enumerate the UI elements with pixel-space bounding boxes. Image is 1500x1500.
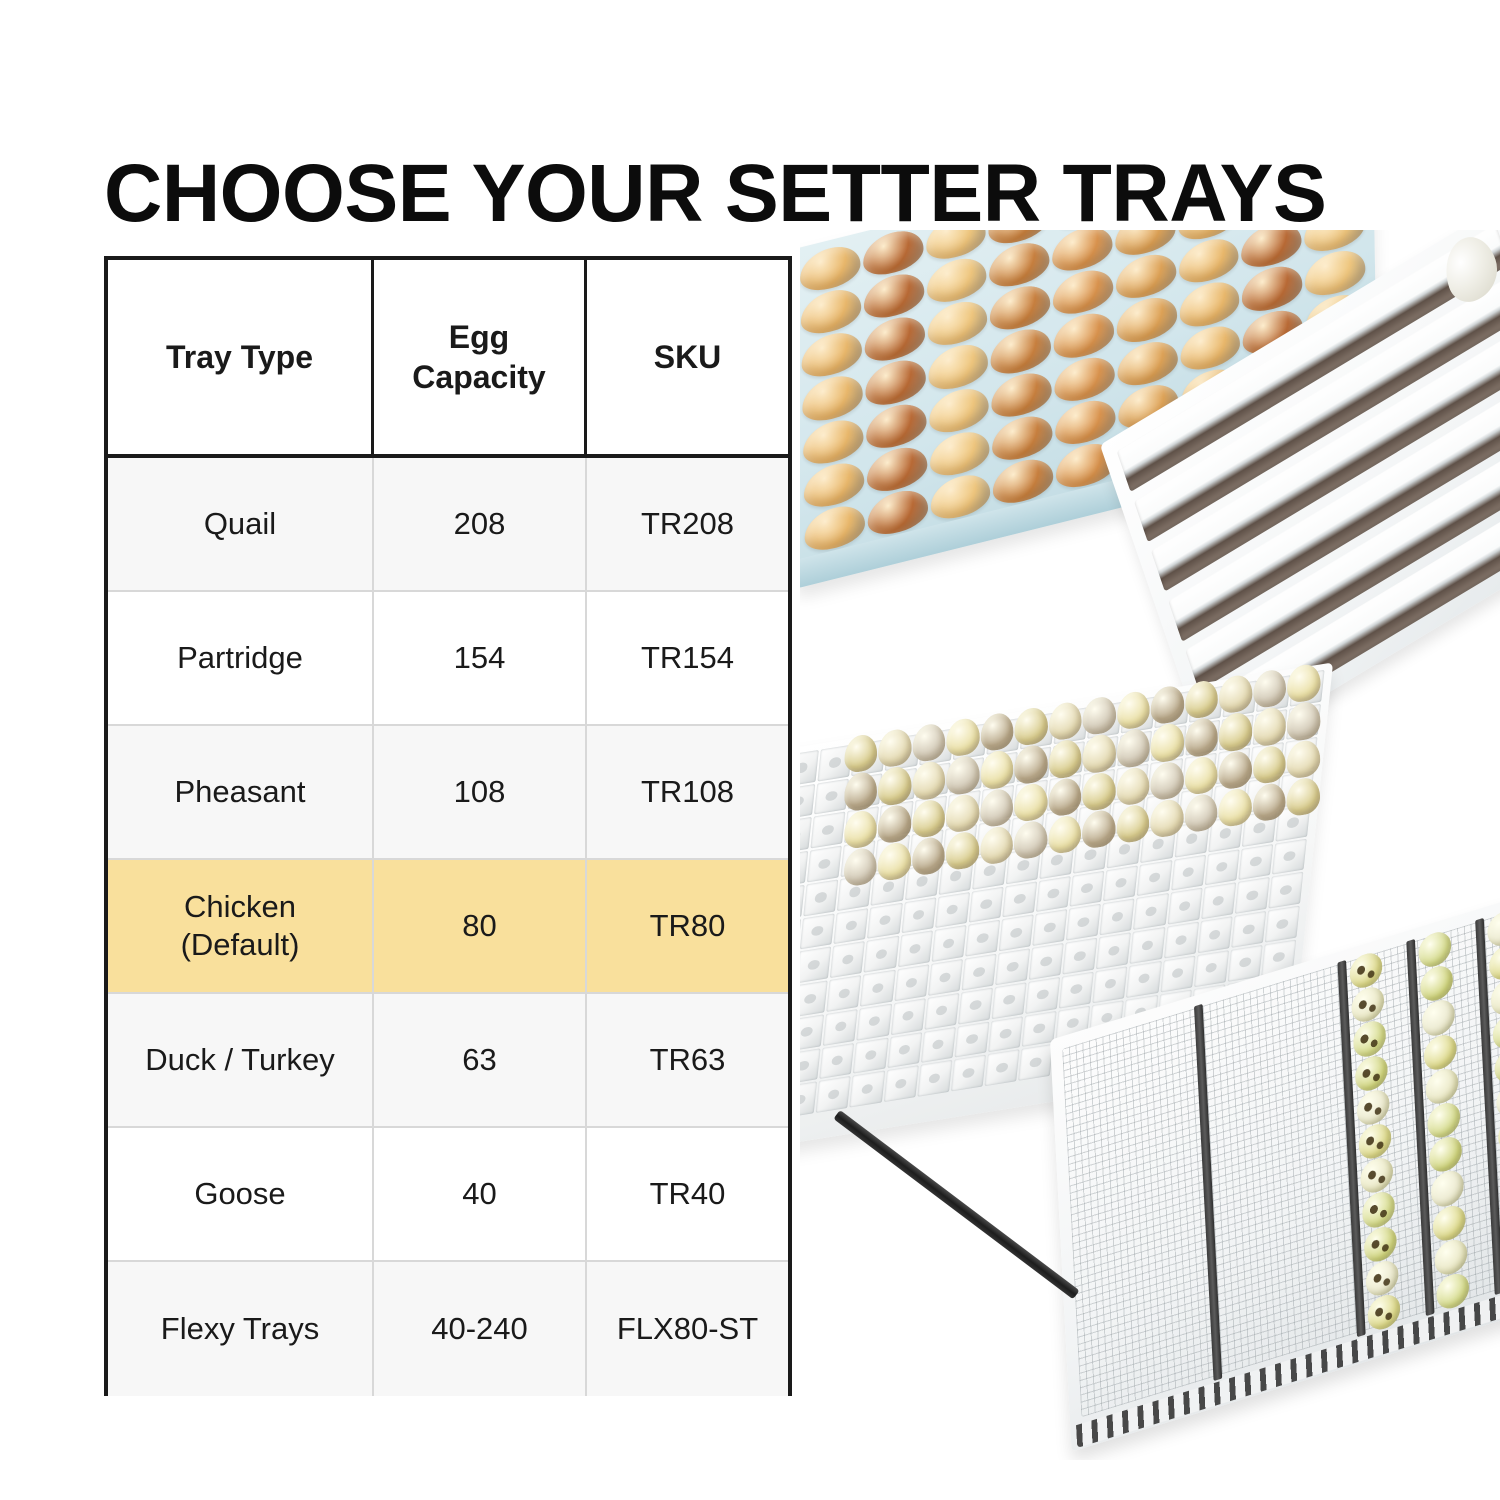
quail-tray-cell [1197, 916, 1232, 953]
quail-tray-cell [800, 784, 815, 821]
quail-tray-cell [901, 897, 936, 934]
quail-egg [1252, 781, 1285, 823]
flexy-tray-egg [1356, 1086, 1390, 1129]
table-header-row: Tray Type Egg Capacity SKU [108, 260, 788, 458]
quail-tray-cell [935, 892, 970, 929]
chicken-egg [803, 414, 864, 469]
quail-egg [1117, 689, 1150, 731]
quail-tray-cell [883, 1066, 918, 1103]
quail-tray-cell [928, 959, 963, 996]
chicken-egg [866, 441, 927, 496]
chicken-egg [991, 367, 1052, 422]
quail-tray-cell [800, 750, 819, 787]
chicken-egg [1052, 230, 1113, 277]
cell-sku: TR108 [587, 726, 788, 858]
flexy-tray-egg [1351, 983, 1385, 1026]
flexy-tray-egg [1354, 1052, 1388, 1095]
flexy-tray-egg [1420, 962, 1454, 1005]
chicken-egg [990, 280, 1051, 335]
chicken-egg [927, 296, 988, 351]
page-root: CHOOSE YOUR SETTER TRAYS Tray Type Egg C… [0, 0, 1500, 1500]
quail-egg [1014, 706, 1047, 748]
column-header-egg-capacity: Egg Capacity [374, 260, 587, 454]
quail-tray-cell [1059, 971, 1094, 1008]
quail-egg [1253, 668, 1286, 710]
cell-egg-capacity: 208 [374, 458, 587, 590]
flexy-tray-egg [1494, 1044, 1500, 1087]
cell-tray-type: Pheasant [108, 726, 374, 858]
quail-egg [1014, 781, 1047, 823]
cell-tray-type: Duck / Turkey [108, 994, 374, 1126]
column-header-tray-type: Tray Type [108, 260, 374, 454]
chicken-egg [1053, 265, 1114, 320]
quail-tray-cell [864, 936, 899, 973]
chicken-egg [1117, 335, 1178, 390]
quail-tray-cell [850, 1071, 885, 1108]
chicken-egg [989, 237, 1050, 292]
table-row[interactable]: Goose 40 TR40 [108, 1128, 788, 1262]
quail-tray-cell [1231, 911, 1266, 948]
quail-egg [844, 808, 877, 850]
chicken-egg [801, 327, 862, 382]
quail-tray-cell [800, 1014, 824, 1051]
quail-tray-cell [1126, 961, 1161, 998]
quail-egg [912, 760, 945, 802]
quail-tray-cell [811, 812, 846, 849]
quail-tray-cell [968, 886, 1003, 923]
quail-tray-cell [800, 980, 828, 1017]
quail-tray-cell [954, 1021, 989, 1058]
chicken-egg [804, 457, 865, 512]
cell-egg-capacity: 108 [374, 726, 587, 858]
quail-egg [946, 792, 979, 834]
quail-egg [844, 733, 877, 775]
quail-tray-cell [1194, 950, 1229, 987]
table-row[interactable]: Quail 208 TR208 [108, 458, 788, 592]
quail-tray-cell [816, 1076, 851, 1113]
quail-tray-cell [1130, 927, 1165, 964]
quail-tray-cell [958, 987, 993, 1024]
quail-tray-cell [999, 915, 1034, 952]
quail-tray-cell [800, 1082, 817, 1119]
quail-egg [946, 716, 979, 758]
quail-tray-cell [1201, 883, 1236, 920]
cell-egg-capacity: 80 [374, 860, 587, 992]
quail-egg [1286, 776, 1319, 818]
chicken-egg [1116, 249, 1177, 304]
quail-tray-cell [1029, 943, 1064, 980]
quail-egg [1116, 727, 1149, 769]
quail-egg [1287, 700, 1320, 742]
quail-tray-cell [1100, 899, 1135, 936]
table-row[interactable]: Partridge 154 TR154 [108, 592, 788, 726]
chicken-egg [991, 324, 1052, 379]
quail-egg [1049, 700, 1082, 742]
flexy-tray-egg [1358, 1120, 1392, 1163]
quail-egg [1151, 684, 1184, 726]
column-header-sku: SKU [587, 260, 788, 454]
quail-egg [1048, 814, 1081, 856]
cell-sku: TR208 [587, 458, 788, 590]
cell-tray-type: Chicken (Default) [108, 860, 374, 992]
quail-tray-cell [827, 975, 862, 1012]
quail-egg [878, 841, 911, 883]
setter-tray-table: Tray Type Egg Capacity SKU Quail 208 TR2… [104, 256, 792, 1396]
quail-egg [878, 803, 911, 845]
quail-tray-cell [1032, 909, 1067, 946]
cell-sku: TR80 [587, 860, 788, 992]
cell-tray-type: Partridge [108, 592, 374, 724]
quail-egg [844, 846, 877, 888]
flexy-tray-egg [1360, 1154, 1394, 1197]
chicken-egg [929, 426, 990, 481]
quail-egg [1287, 662, 1320, 704]
quail-egg [1252, 743, 1285, 785]
quail-tray-cell [853, 1037, 888, 1074]
quail-egg [1185, 679, 1218, 721]
chicken-egg [1178, 233, 1239, 288]
chicken-egg [802, 371, 863, 426]
quail-tray-cell [992, 982, 1027, 1019]
divider-rod-photo [833, 1110, 1079, 1299]
quail-tray-cell [860, 970, 895, 1007]
cell-egg-capacity: 40 [374, 1128, 587, 1260]
quail-tray-cell [1093, 966, 1128, 1003]
quail-tray-cell [921, 1026, 956, 1063]
quail-egg [912, 797, 945, 839]
cell-tray-type: Goose [108, 1128, 374, 1260]
quail-egg [1083, 695, 1116, 737]
chicken-egg [992, 410, 1053, 465]
flexy-tray-egg [1425, 1065, 1459, 1108]
chicken-egg [1116, 292, 1177, 347]
quail-egg [1185, 716, 1218, 758]
cell-egg-capacity: 154 [374, 592, 587, 724]
flexy-tray-egg [1488, 941, 1500, 984]
quail-tray-cell [1167, 888, 1202, 925]
chicken-egg [801, 284, 862, 339]
quail-tray-cell [1036, 876, 1071, 913]
quail-egg [980, 749, 1013, 791]
quail-egg [1253, 706, 1286, 748]
flexy-tray-egg [1352, 1017, 1386, 1060]
quail-egg [1014, 819, 1047, 861]
quail-tray-cell [1204, 849, 1239, 886]
quail-egg [980, 824, 1013, 866]
quail-egg [912, 835, 945, 877]
quail-egg [1150, 797, 1183, 839]
flexy-tray-egg [1430, 1167, 1464, 1210]
quail-tray-cell [887, 1032, 922, 1069]
cell-egg-capacity: 40-240 [374, 1262, 587, 1396]
quail-egg [878, 727, 911, 769]
flexy-tray-egg [1490, 975, 1500, 1018]
cell-sku: TR154 [587, 592, 788, 724]
flexy-tray-egg [1432, 1201, 1466, 1244]
chicken-egg [864, 312, 925, 367]
quail-egg [1082, 733, 1115, 775]
quail-tray-cell [1171, 854, 1206, 891]
quail-egg [980, 787, 1013, 829]
quail-tray-cell [988, 1016, 1023, 1053]
flexy-tray-egg [1423, 1031, 1457, 1074]
quail-egg [1048, 776, 1081, 818]
chicken-egg [928, 339, 989, 394]
quail-egg [878, 765, 911, 807]
quail-tray-cell [1025, 977, 1060, 1014]
chicken-egg [1242, 261, 1303, 316]
flexy-tray-egg [1421, 996, 1455, 1039]
quail-egg [1184, 792, 1217, 834]
table-row[interactable]: Pheasant 108 TR108 [108, 726, 788, 860]
quail-tray-cell [1018, 1044, 1053, 1081]
product-photo-collage [800, 230, 1500, 1460]
quail-tray-cell [819, 1042, 854, 1079]
quail-egg [1218, 787, 1251, 829]
quail-tray-cell [894, 964, 929, 1001]
quail-tray-cell [1066, 904, 1101, 941]
quail-egg [1151, 722, 1184, 764]
chicken-egg [865, 355, 926, 410]
table-row-highlighted-chicken[interactable]: Chicken (Default) 80 TR80 [108, 860, 788, 994]
flexy-tray-egg [1429, 1133, 1463, 1176]
quail-egg [912, 722, 945, 764]
quail-tray-cell [1070, 870, 1105, 907]
page-title: CHOOSE YOUR SETTER TRAYS [104, 151, 1414, 237]
quail-tray-cell [1133, 893, 1168, 930]
quail-egg [1048, 738, 1081, 780]
quail-egg [1219, 711, 1252, 753]
table-row[interactable]: Flexy Trays 40-240 FLX80-ST [108, 1262, 788, 1396]
quail-tray-cell [867, 902, 902, 939]
quail-egg [1287, 738, 1320, 780]
quail-tray-cell [897, 931, 932, 968]
quail-tray-cell [1268, 872, 1303, 909]
chicken-egg [863, 268, 924, 323]
quail-tray-cell [961, 954, 996, 991]
chicken-egg [1179, 277, 1240, 332]
quail-tray-cell [924, 993, 959, 1030]
flexy-tray-egg [1496, 1078, 1500, 1121]
chicken-egg [866, 398, 927, 453]
quail-tray-cell [823, 1009, 858, 1046]
quail-egg [1014, 743, 1047, 785]
quail-tray-cell [1137, 860, 1172, 897]
quail-egg [1184, 754, 1217, 796]
quail-egg [1218, 749, 1251, 791]
quail-egg [1082, 808, 1115, 850]
chicken-egg [1241, 230, 1302, 273]
quail-tray-cell [917, 1060, 952, 1097]
quail-egg [1219, 673, 1252, 715]
table-row[interactable]: Duck / Turkey 63 TR63 [108, 994, 788, 1128]
quail-tray-cell [834, 908, 869, 945]
quail-tray-cell [1238, 844, 1273, 881]
chicken-egg [929, 382, 990, 437]
quail-egg [1082, 770, 1115, 812]
quail-tray-cell [951, 1055, 986, 1092]
quail-tray-cell [1062, 938, 1097, 975]
quail-tray-cell [800, 947, 831, 984]
chicken-egg [926, 253, 987, 308]
quail-tray-cell [890, 998, 925, 1035]
chicken-egg [1054, 351, 1115, 406]
quail-tray-cell [800, 1048, 821, 1085]
quail-tray-cell [1272, 838, 1307, 875]
quail-tray-cell [965, 920, 1000, 957]
quail-tray-cell [800, 817, 812, 854]
quail-egg [1150, 760, 1183, 802]
quail-tray-cell [1164, 922, 1199, 959]
quail-egg [946, 830, 979, 872]
quail-tray-cell [1160, 955, 1195, 992]
flexy-tray-egg [1492, 1009, 1500, 1052]
chicken-egg [1054, 308, 1115, 363]
quail-egg [1116, 803, 1149, 845]
cell-sku: TR63 [587, 994, 788, 1126]
quail-egg [844, 770, 877, 812]
quail-tray-cell [800, 913, 835, 950]
chicken-egg [863, 230, 924, 280]
quail-tray-cell [803, 879, 838, 916]
flexy-tray-egg [1365, 1257, 1399, 1300]
cell-tray-type: Flexy Trays [108, 1262, 374, 1396]
flexy-tray-egg [1434, 1235, 1468, 1278]
quail-tray-cell [1235, 877, 1270, 914]
quail-egg [980, 711, 1013, 753]
cell-sku: FLX80-ST [587, 1262, 788, 1396]
quail-tray-cell [830, 941, 865, 978]
quail-tray-cell [931, 925, 966, 962]
cell-egg-capacity: 63 [374, 994, 587, 1126]
quail-tray-cell [984, 1049, 1019, 1086]
cell-sku: TR40 [587, 1128, 788, 1260]
flexy-tray-egg [1361, 1188, 1395, 1231]
flexy-tray-egg [1427, 1099, 1461, 1142]
cell-tray-type: Quail [108, 458, 374, 590]
quail-egg [946, 754, 979, 796]
quail-tray-cell [807, 846, 842, 883]
quail-tray-cell [857, 1003, 892, 1040]
quail-tray-cell [1265, 906, 1300, 943]
quail-tray-cell [1103, 865, 1138, 902]
quail-tray-cell [1002, 881, 1037, 918]
quail-egg [1116, 765, 1149, 807]
quail-tray-cell [995, 948, 1030, 985]
quail-tray-cell [1096, 932, 1131, 969]
flexy-tray-egg [1363, 1222, 1397, 1265]
